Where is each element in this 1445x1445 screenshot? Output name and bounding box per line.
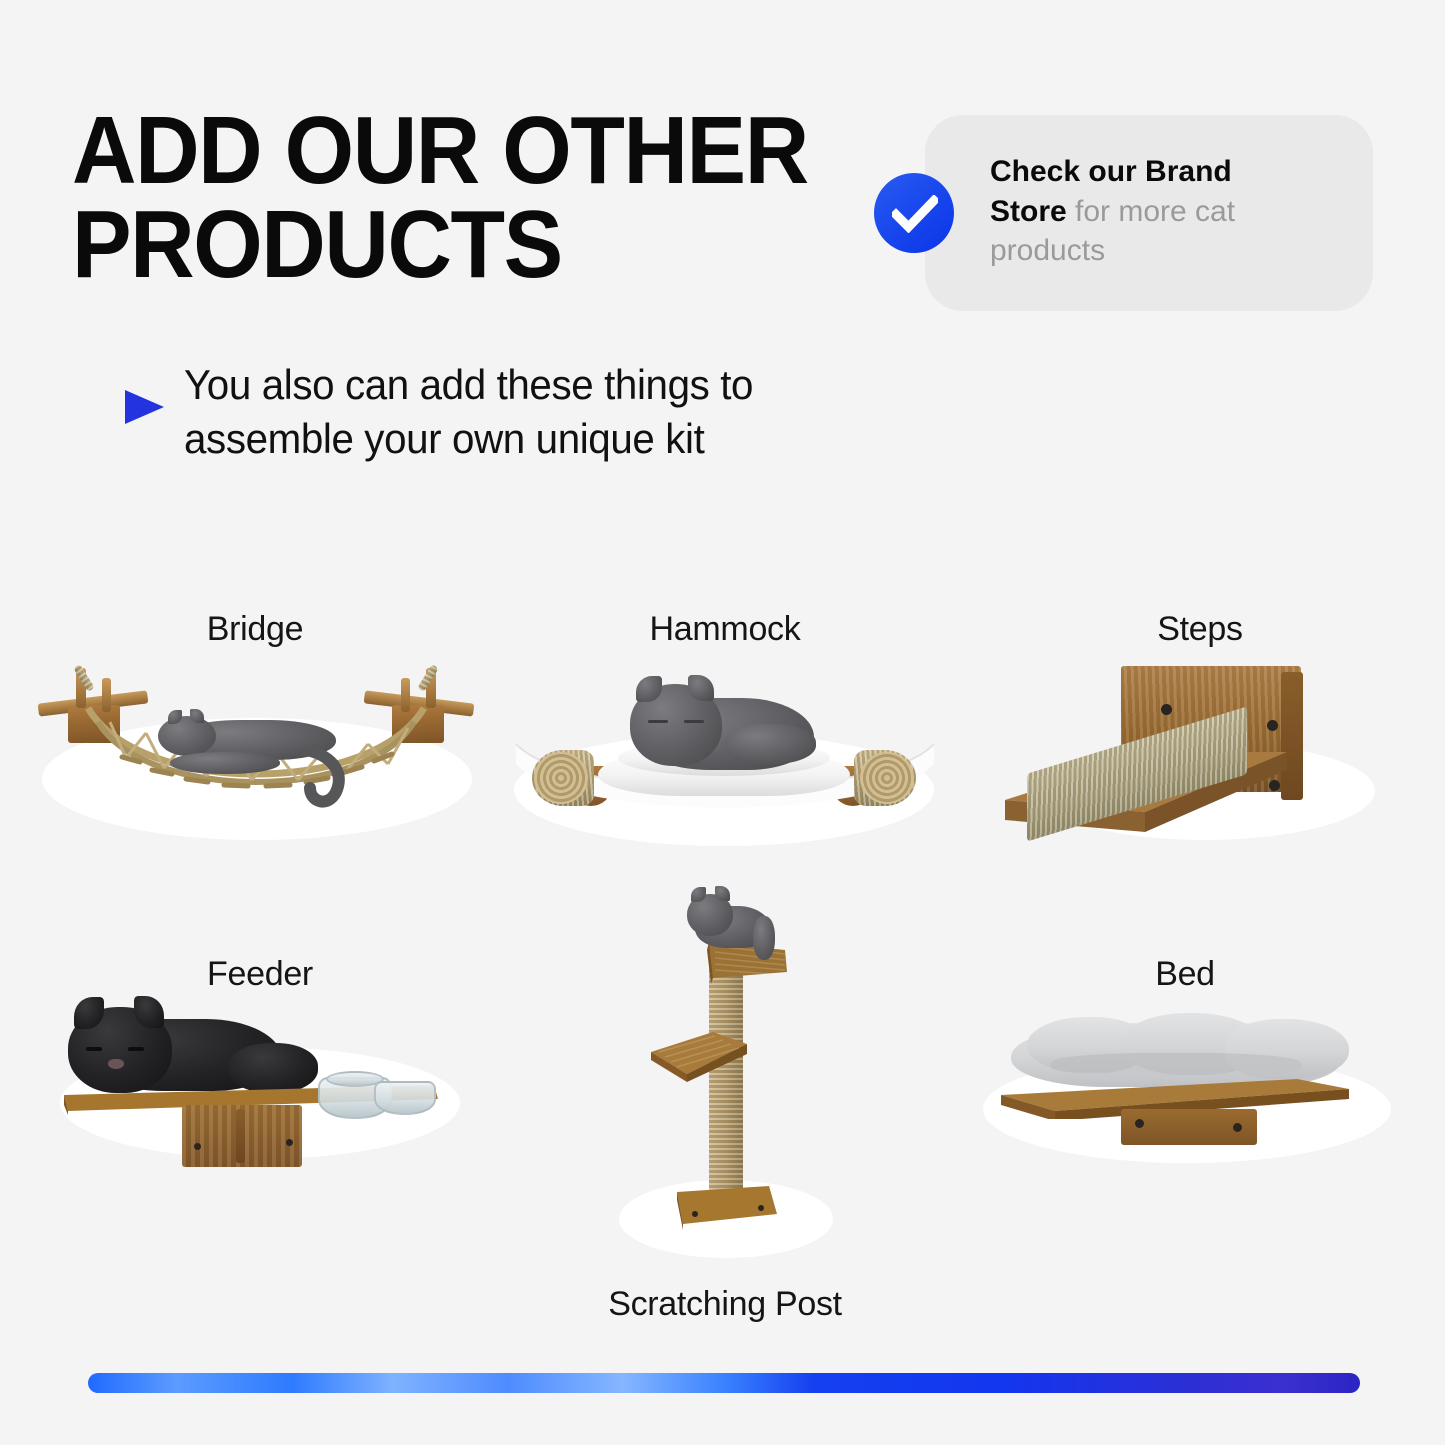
product-label-bed: Bed bbox=[955, 955, 1415, 994]
rope-bridge-with-gray-cat bbox=[20, 660, 490, 840]
wooden-feeder-shelf-with-black-cat-and-bowls bbox=[30, 1001, 490, 1181]
sisal-scratching-post-with-platforms-and-gray-cat bbox=[575, 880, 875, 1280]
product-card-bed[interactable]: Bed bbox=[955, 955, 1415, 1185]
promo-page: ADD OUR OTHER PRODUCTS Check our Brand S… bbox=[0, 0, 1445, 1445]
product-card-scratching-post[interactable]: Scratching Post bbox=[575, 880, 875, 1330]
play-triangle-icon bbox=[125, 390, 164, 424]
page-title: ADD OUR OTHER PRODUCTS bbox=[72, 104, 816, 292]
product-card-steps[interactable]: Steps bbox=[975, 610, 1425, 840]
wooden-wall-bed-with-gray-cushion bbox=[955, 1001, 1415, 1181]
product-label-hammock: Hammock bbox=[490, 610, 960, 649]
product-label-steps: Steps bbox=[975, 610, 1425, 649]
product-card-bridge[interactable]: Bridge bbox=[20, 610, 490, 840]
footer-gradient-bar bbox=[88, 1373, 1360, 1393]
brand-store-message: Check our Brand Store for more cat produ… bbox=[990, 152, 1290, 271]
product-label-scratching-post: Scratching Post bbox=[575, 1285, 875, 1324]
white-hammock-with-gray-cat bbox=[490, 666, 960, 846]
product-card-feeder[interactable]: Feeder bbox=[30, 955, 490, 1185]
product-label-bridge: Bridge bbox=[20, 610, 490, 649]
wooden-step-with-sisal bbox=[975, 660, 1425, 840]
product-card-hammock[interactable]: Hammock bbox=[490, 610, 960, 840]
subheading: You also can add these things to assembl… bbox=[184, 358, 856, 466]
product-label-feeder: Feeder bbox=[30, 955, 490, 994]
check-circle-icon bbox=[874, 173, 954, 253]
